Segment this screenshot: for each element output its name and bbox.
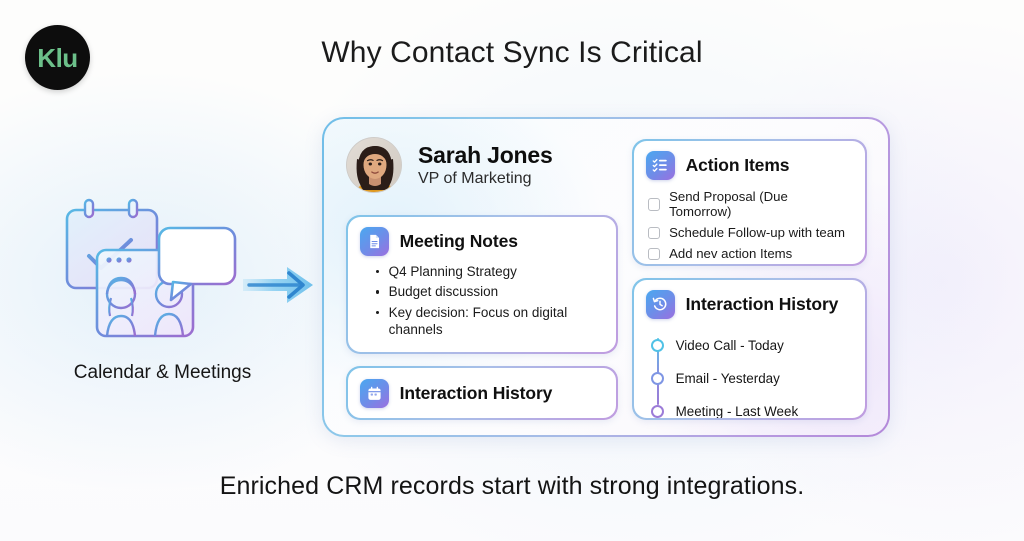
interaction-timeline: Video Call - Today Email - Yesterday Mee… xyxy=(651,329,854,419)
list-item[interactable]: Meeting - Last Week xyxy=(651,395,854,419)
checkbox[interactable] xyxy=(648,227,661,240)
timeline-event-label: Meeting - Last Week xyxy=(676,404,799,419)
calendar-meetings-block: Calendar & Meetings xyxy=(55,190,270,384)
footer-caption: Enriched CRM records start with strong i… xyxy=(0,472,1024,501)
avatar xyxy=(346,137,402,193)
interaction-history-button[interactable]: Interaction History xyxy=(346,366,618,420)
action-item-label: Send Proposal (Due Tomorrow) xyxy=(669,189,853,221)
contact-profile: Sarah Jones VP of Marketing xyxy=(346,137,553,193)
calendar-meetings-illustration xyxy=(55,190,270,350)
action-item-label: Schedule Follow-up with team xyxy=(669,225,845,241)
list-item[interactable]: Send Proposal (Due Tomorrow) xyxy=(648,189,854,221)
interaction-history-button-label: Interaction History xyxy=(400,383,553,404)
action-item-label: Add nev action Items xyxy=(669,246,792,262)
checklist-icon xyxy=(646,151,675,180)
timeline-dot-icon xyxy=(651,372,664,385)
interaction-history-card: Interaction History Video Call - Today E… xyxy=(632,278,867,420)
meeting-notes-card: Meeting Notes Q4 Planning Strategy Budge… xyxy=(346,215,618,354)
interaction-history-title: Interaction History xyxy=(686,294,839,315)
checkbox[interactable] xyxy=(648,198,661,211)
timeline-event-label: Email - Yesterday xyxy=(676,371,780,386)
list-item[interactable]: Schedule Follow-up with team xyxy=(648,225,854,241)
page-title: Why Contact Sync Is Critical xyxy=(0,36,1024,70)
calendar-icon xyxy=(360,379,389,408)
timeline-event-label: Video Call - Today xyxy=(676,338,784,353)
checkbox[interactable] xyxy=(648,248,661,261)
arrow-right-icon xyxy=(243,255,323,315)
calendar-meetings-label: Calendar & Meetings xyxy=(55,362,270,384)
clock-history-icon xyxy=(646,290,675,319)
list-item[interactable]: Email - Yesterday xyxy=(651,362,854,395)
document-icon xyxy=(360,227,389,256)
contact-name: Sarah Jones xyxy=(418,143,553,168)
list-item: Q4 Planning Strategy xyxy=(376,263,605,281)
timeline-dot-icon xyxy=(651,339,664,352)
list-item[interactable]: Video Call - Today xyxy=(651,329,854,362)
meeting-notes-list: Q4 Planning Strategy Budget discussion K… xyxy=(376,263,605,340)
action-items-list: Send Proposal (Due Tomorrow) Schedule Fo… xyxy=(648,189,854,262)
timeline-dot-icon xyxy=(651,405,664,418)
list-item: Key decision: Focus on digital channels xyxy=(376,304,605,340)
meeting-notes-title: Meeting Notes xyxy=(400,231,518,252)
contact-role: VP of Marketing xyxy=(418,170,553,188)
crm-record-card: Sarah Jones VP of Marketing Meeting Note… xyxy=(322,117,890,437)
action-items-title: Action Items xyxy=(686,155,790,176)
list-item: Budget discussion xyxy=(376,283,605,301)
list-item[interactable]: Add nev action Items xyxy=(648,246,854,262)
action-items-card: Action Items Send Proposal (Due Tomorrow… xyxy=(632,139,867,266)
